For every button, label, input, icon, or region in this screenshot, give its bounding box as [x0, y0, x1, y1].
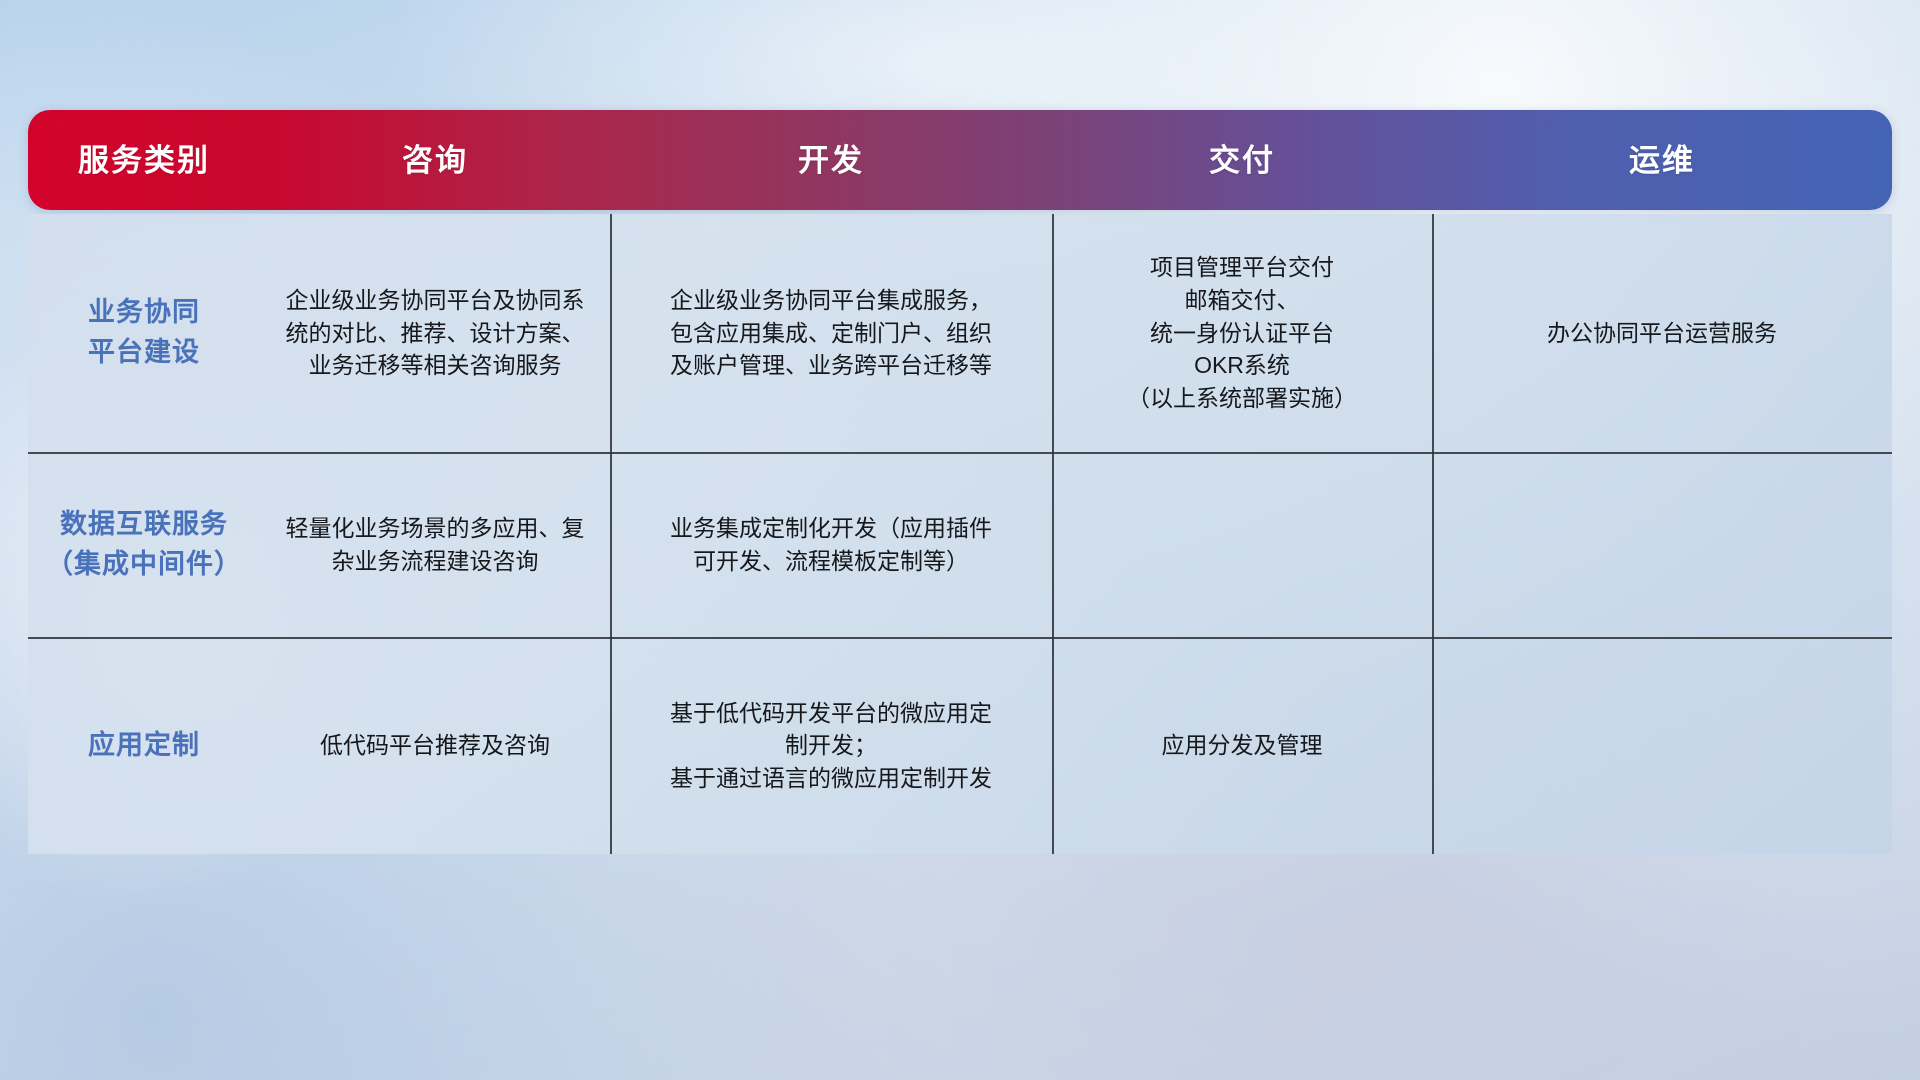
cell-development: 基于低代码开发平台的微应用定 制开发； 基于通过语言的微应用定制开发 [610, 637, 1052, 854]
cell-delivery: 项目管理平台交付 邮箱交付、 统一身份认证平台 OKR系统 （以上系统部署实施） [1052, 214, 1432, 452]
cell-development: 业务集成定制化开发（应用插件 可开发、流程模板定制等） [610, 452, 1052, 637]
table-row: 业务协同 平台建设 企业级业务协同平台及协同系 统的对比、推荐、设计方案、 业务… [28, 214, 1892, 452]
cell-operations [1432, 637, 1892, 854]
table-row: 应用定制 低代码平台推荐及咨询 基于低代码开发平台的微应用定 制开发； 基于通过… [28, 637, 1892, 854]
table-row: 数据互联服务 （集成中间件） 轻量化业务场景的多应用、复 杂业务流程建设咨询 业… [28, 452, 1892, 637]
column-header-development: 开发 [610, 110, 1052, 210]
row-category-label: 数据互联服务 （集成中间件） [28, 452, 260, 637]
service-matrix-table: 服务类别 咨询 开发 交付 运维 业务协同 平台建设 企业级业务协同平台及协同系… [28, 110, 1892, 854]
cell-development: 企业级业务协同平台集成服务， 包含应用集成、定制门户、组织 及账户管理、业务跨平… [610, 214, 1052, 452]
column-header-delivery: 交付 [1052, 110, 1432, 210]
cell-consulting: 轻量化业务场景的多应用、复 杂业务流程建设咨询 [260, 452, 610, 637]
column-header-operations: 运维 [1432, 110, 1892, 210]
column-header-category: 服务类别 [28, 110, 260, 210]
cell-delivery: 应用分发及管理 [1052, 637, 1432, 854]
row-category-label: 业务协同 平台建设 [28, 214, 260, 452]
table-header-row: 服务类别 咨询 开发 交付 运维 [28, 110, 1892, 210]
table-body: 业务协同 平台建设 企业级业务协同平台及协同系 统的对比、推荐、设计方案、 业务… [28, 214, 1892, 854]
cell-consulting: 低代码平台推荐及咨询 [260, 637, 610, 854]
cell-operations [1432, 452, 1892, 637]
column-header-consulting: 咨询 [260, 110, 610, 210]
cell-delivery [1052, 452, 1432, 637]
cell-operations: 办公协同平台运营服务 [1432, 214, 1892, 452]
row-category-label: 应用定制 [28, 637, 260, 854]
cell-consulting: 企业级业务协同平台及协同系 统的对比、推荐、设计方案、 业务迁移等相关咨询服务 [260, 214, 610, 452]
